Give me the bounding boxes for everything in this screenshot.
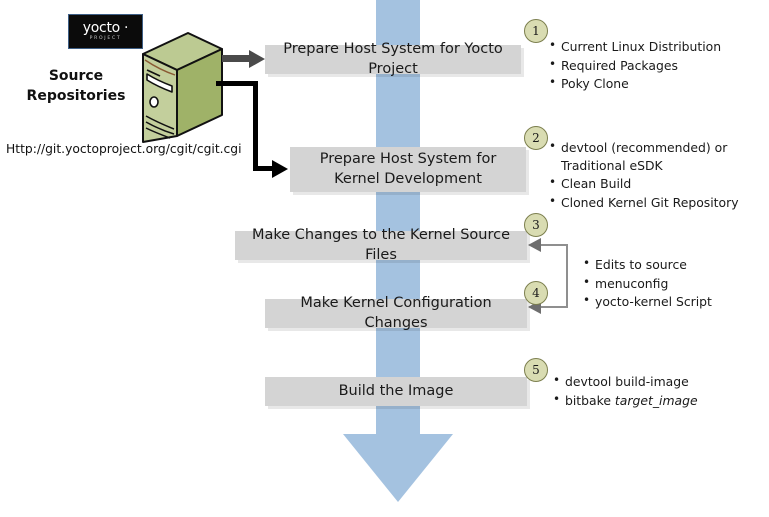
bitbake-command-prefix: bitbake	[565, 393, 615, 408]
step-badge-5: 5	[524, 358, 548, 382]
bullet-list-step1: Current Linux Distribution Required Pack…	[549, 38, 764, 94]
bitbake-target-placeholder: target_image	[615, 393, 698, 408]
process-box-step4[interactable]: Make Kernel Configuration Changes	[265, 299, 527, 328]
bracket-arrowhead-step3	[528, 238, 541, 252]
list-item: Clean Build	[549, 175, 767, 193]
list-item: Edits to source	[583, 256, 763, 274]
process-box-step3[interactable]: Make Changes to the Kernel Source Files	[235, 231, 527, 260]
step-badge-3: 3	[524, 213, 548, 237]
list-item: bitbake target_image	[553, 392, 763, 410]
logo-subtext: PROJECT	[90, 37, 122, 42]
step-badge-1: 1	[524, 19, 548, 43]
connector-source-to-step2-horizontal-top	[216, 81, 258, 86]
list-item: devtool (recommended) or Traditional eSD…	[549, 139, 767, 174]
process-box-step5[interactable]: Build the Image	[265, 377, 527, 406]
step-badge-4: 4	[524, 281, 548, 305]
list-item: yocto-kernel Script	[583, 293, 763, 311]
bullet-list-step5: devtool build-image bitbake target_image	[553, 373, 763, 410]
step-badge-2: 2	[524, 126, 548, 150]
server-tower-icon	[130, 30, 230, 145]
bracket-horizontal-step4	[540, 306, 568, 308]
source-repositories-label: Source Repositories	[12, 66, 140, 107]
list-item: Cloned Kernel Git Repository	[549, 194, 767, 212]
list-item: menuconfig	[583, 275, 763, 293]
list-item: devtool build-image	[553, 373, 763, 391]
process-box-step1[interactable]: Prepare Host System for Yocto Project	[265, 45, 521, 74]
bracket-vertical-steps-3-4	[566, 244, 568, 308]
list-item: Required Packages	[549, 57, 764, 75]
workflow-spine-arrow-head	[343, 434, 453, 502]
process-box-step2[interactable]: Prepare Host System for Kernel Developme…	[290, 147, 526, 192]
list-item: Current Linux Distribution	[549, 38, 764, 56]
connector-source-to-step2-vertical	[253, 81, 258, 171]
connector-source-to-step1-arrowhead	[249, 50, 265, 68]
list-item: Poky Clone	[549, 75, 764, 93]
bullet-list-steps-3-4: Edits to source menuconfig yocto-kernel …	[583, 256, 763, 312]
diagram-canvas: yocto · PROJECT Source Repositories Http…	[0, 0, 769, 517]
connector-source-to-step2-arrowhead	[272, 160, 288, 178]
logo-wordmark: yocto ·	[83, 21, 128, 35]
bullet-list-step2: devtool (recommended) or Traditional eSD…	[549, 139, 767, 212]
connector-source-to-step1-shaft	[222, 55, 252, 62]
bracket-horizontal-step3	[540, 244, 568, 246]
